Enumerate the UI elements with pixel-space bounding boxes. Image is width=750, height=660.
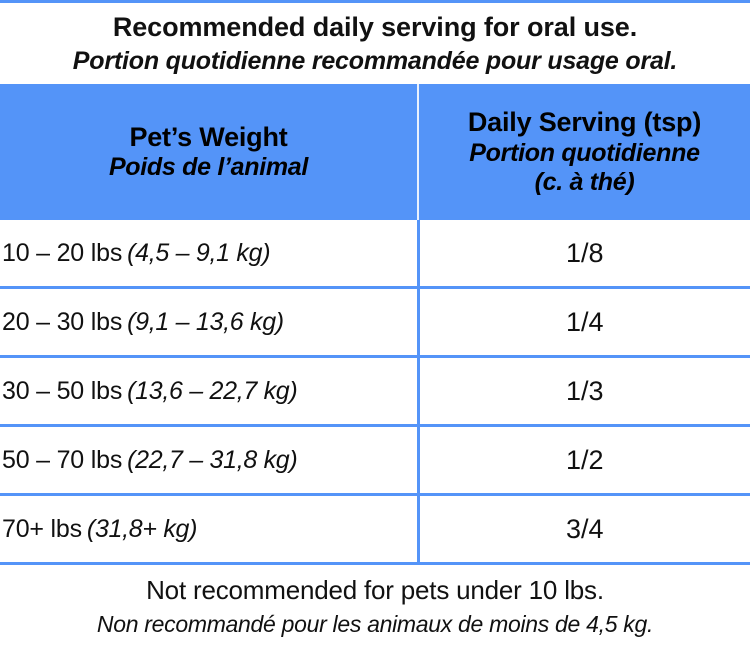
page-title-fr: Portion quotidienne recommandée pour usa…	[6, 46, 744, 76]
serving-value: 3/4	[566, 514, 604, 544]
cell-daily-serving: 3/4	[418, 495, 750, 564]
table-row: 10 – 20 lbs(4,5 – 9,1 kg) 1/8	[0, 220, 750, 288]
column-header-pet-weight-fr: Poids de l’animal	[6, 153, 411, 182]
cell-pet-weight: 10 – 20 lbs(4,5 – 9,1 kg)	[0, 220, 418, 288]
cell-daily-serving: 1/3	[418, 357, 750, 426]
weight-lbs: 70+ lbs	[2, 515, 82, 543]
column-header-pet-weight: Pet’s Weight Poids de l’animal	[0, 84, 418, 220]
table-row: 50 – 70 lbs(22,7 – 31,8 kg) 1/2	[0, 426, 750, 495]
footer-note-en: Not recommended for pets under 10 lbs.	[0, 575, 750, 606]
weight-kg: (22,7 – 31,8 kg)	[127, 446, 297, 474]
cell-pet-weight: 20 – 30 lbs(9,1 – 13,6 kg)	[0, 288, 418, 357]
table-row: 70+ lbs(31,8+ kg) 3/4	[0, 495, 750, 564]
cell-pet-weight: 70+ lbs(31,8+ kg)	[0, 495, 418, 564]
cell-daily-serving: 1/2	[418, 426, 750, 495]
dosage-chart: Recommended daily serving for oral use. …	[0, 0, 750, 660]
column-header-pet-weight-en: Pet’s Weight	[6, 122, 411, 153]
page-title-en: Recommended daily serving for oral use.	[6, 12, 744, 43]
table-body: 10 – 20 lbs(4,5 – 9,1 kg) 1/8 20 – 30 lb…	[0, 220, 750, 564]
cell-pet-weight: 50 – 70 lbs(22,7 – 31,8 kg)	[0, 426, 418, 495]
serving-table: Pet’s Weight Poids de l’animal Daily Ser…	[0, 84, 750, 565]
weight-kg: (31,8+ kg)	[87, 515, 197, 543]
cell-daily-serving: 1/8	[418, 220, 750, 288]
chart-footer-block: Not recommended for pets under 10 lbs. N…	[0, 565, 750, 638]
weight-lbs: 30 – 50 lbs	[2, 377, 122, 405]
column-header-daily-serving-en: Daily Serving (tsp)	[425, 107, 744, 138]
table-row: 30 – 50 lbs(13,6 – 22,7 kg) 1/3	[0, 357, 750, 426]
weight-kg: (4,5 – 9,1 kg)	[127, 239, 270, 267]
footer-note-fr: Non recommandé pour les animaux de moins…	[0, 611, 750, 639]
table-header-row: Pet’s Weight Poids de l’animal Daily Ser…	[0, 84, 750, 220]
cell-pet-weight: 30 – 50 lbs(13,6 – 22,7 kg)	[0, 357, 418, 426]
chart-title-block: Recommended daily serving for oral use. …	[0, 3, 750, 84]
column-header-daily-serving-fr-unit: (c. à thé)	[425, 168, 744, 197]
weight-kg: (9,1 – 13,6 kg)	[127, 308, 284, 336]
serving-value: 1/3	[566, 376, 604, 406]
weight-lbs: 10 – 20 lbs	[2, 239, 122, 267]
serving-value: 1/4	[566, 307, 604, 337]
weight-lbs: 20 – 30 lbs	[2, 308, 122, 336]
weight-lbs: 50 – 70 lbs	[2, 446, 122, 474]
column-header-daily-serving: Daily Serving (tsp) Portion quotidienne …	[418, 84, 750, 220]
table-header: Pet’s Weight Poids de l’animal Daily Ser…	[0, 84, 750, 220]
cell-daily-serving: 1/4	[418, 288, 750, 357]
column-header-daily-serving-fr: Portion quotidienne	[425, 139, 744, 168]
serving-value: 1/8	[566, 238, 604, 268]
serving-value: 1/2	[566, 445, 604, 475]
table-row: 20 – 30 lbs(9,1 – 13,6 kg) 1/4	[0, 288, 750, 357]
weight-kg: (13,6 – 22,7 kg)	[127, 377, 297, 405]
